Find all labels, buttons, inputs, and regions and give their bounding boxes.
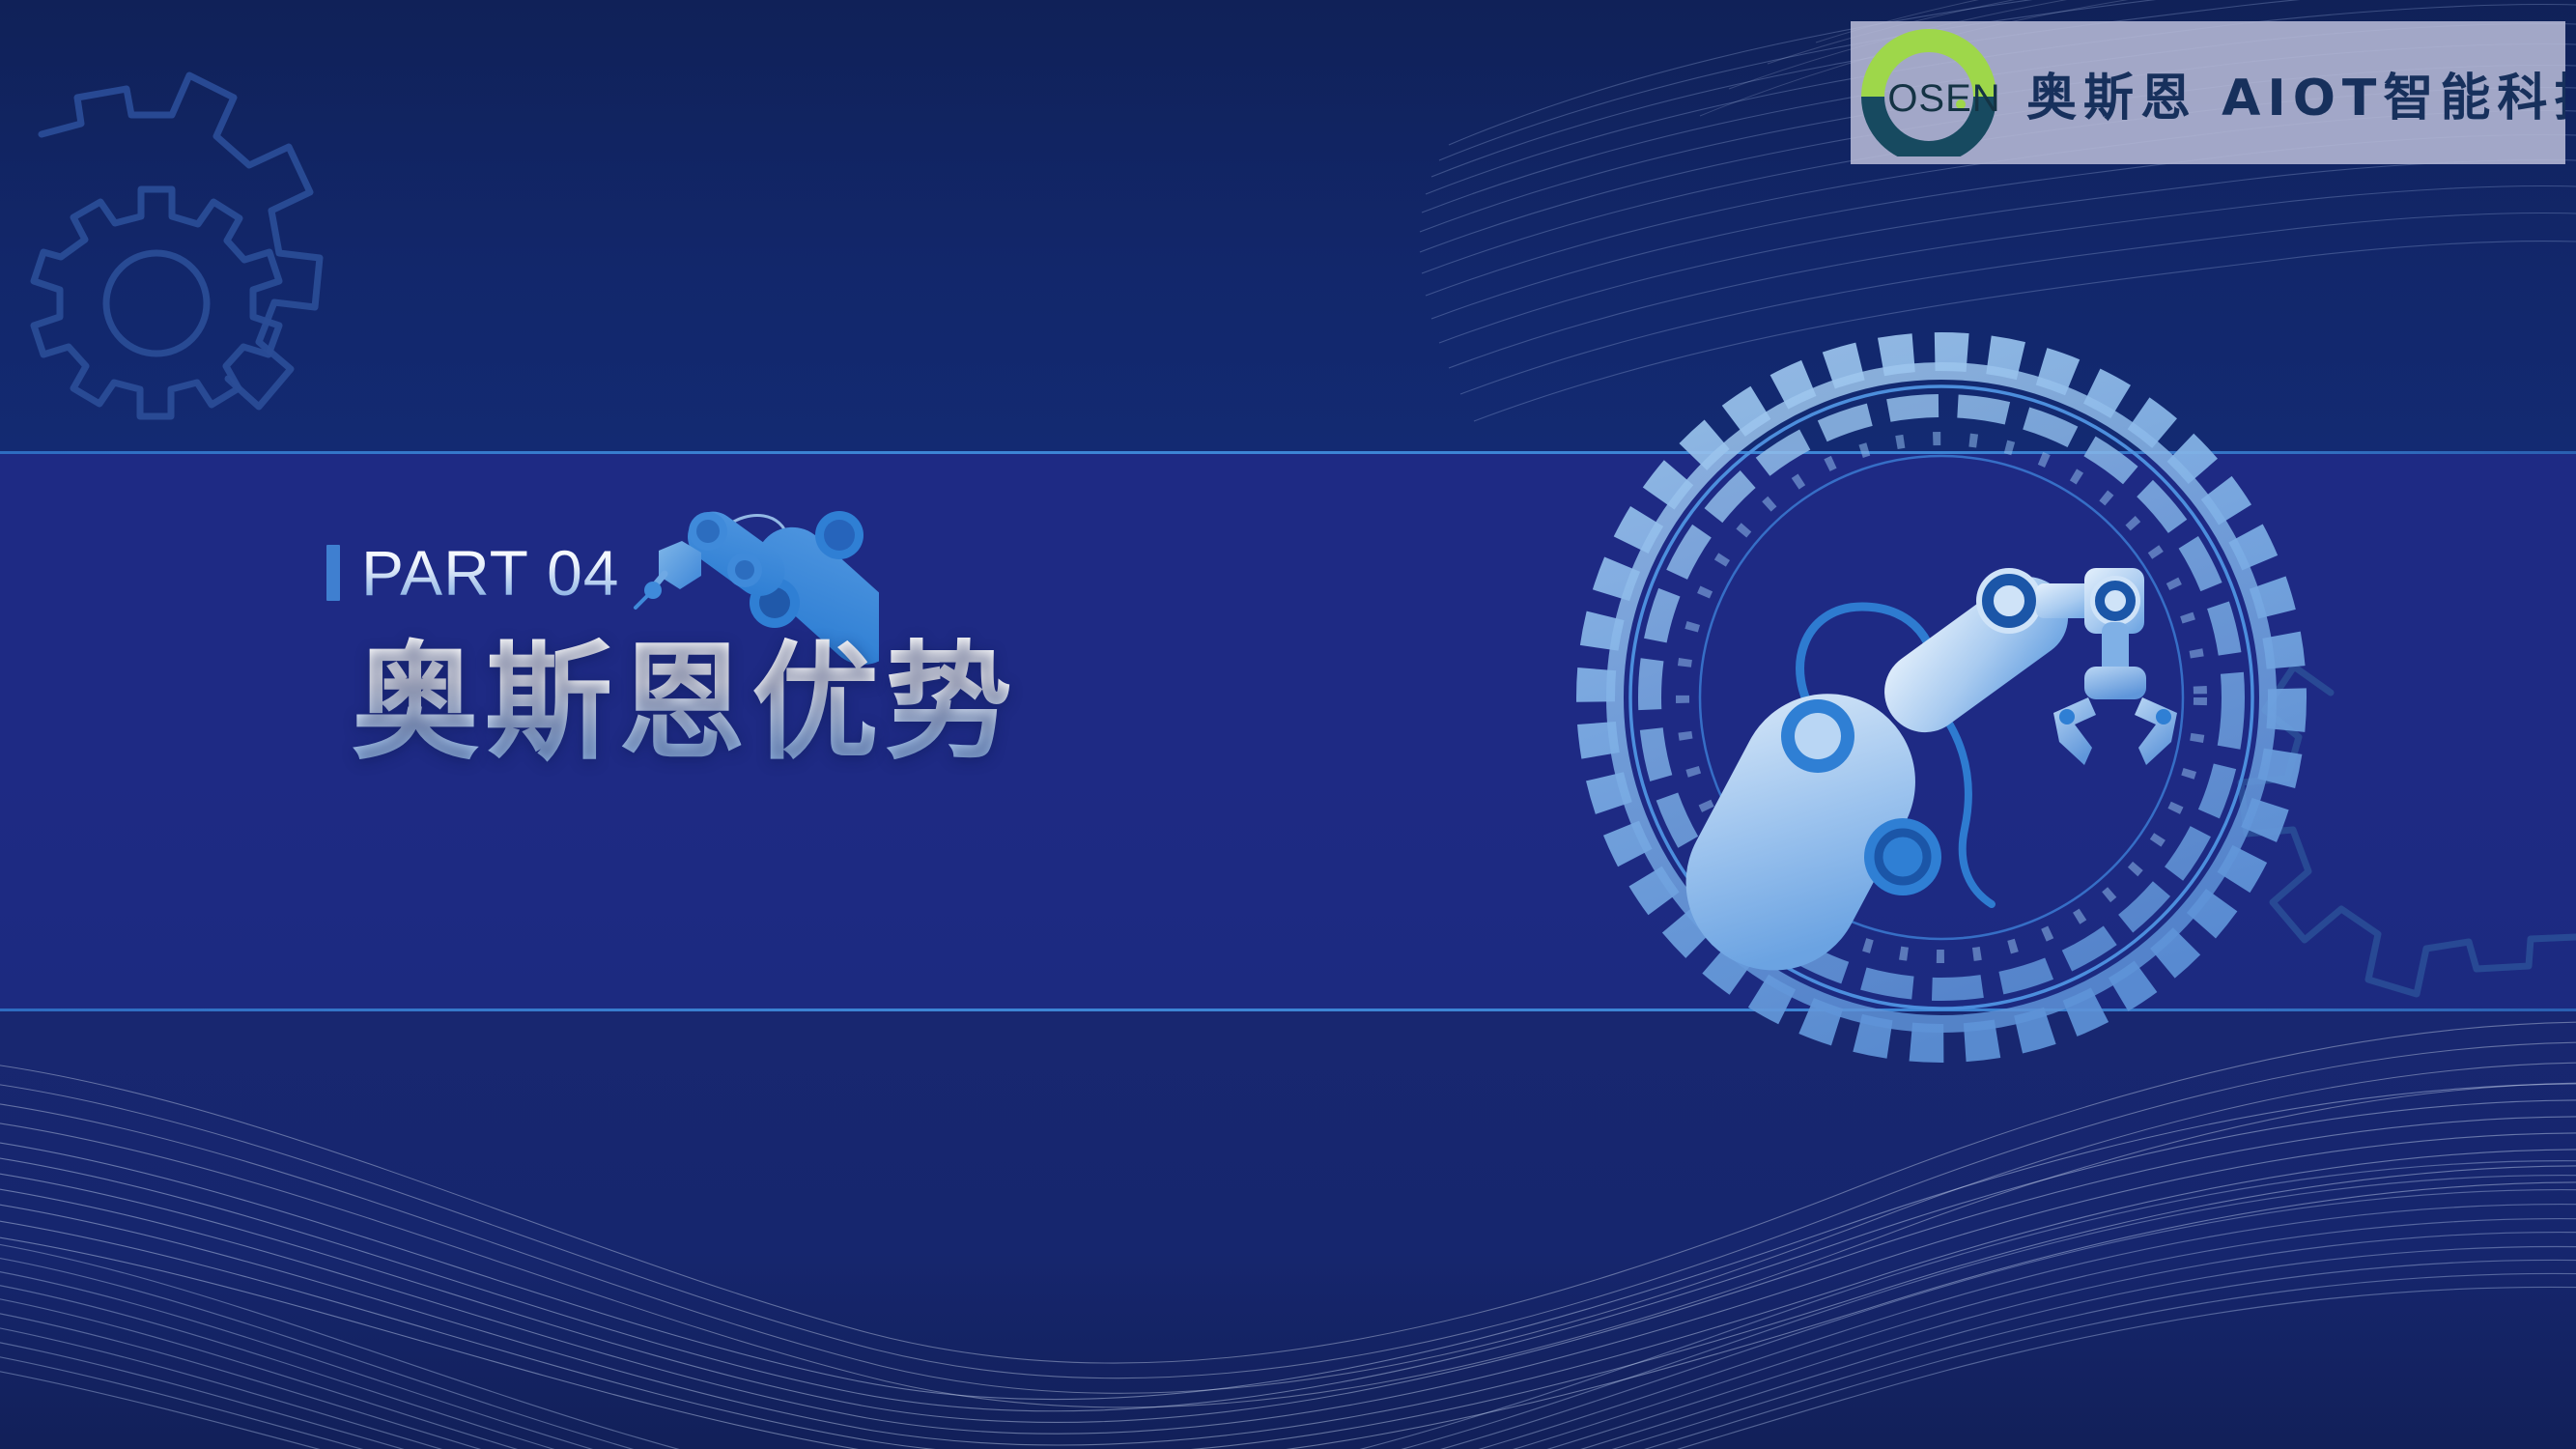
- company-logo-panel: OSEN 奥斯恩 AIOT智能科技: [1851, 21, 2565, 164]
- slide-canvas: PART 04 奥斯恩优势 OSEN 奥斯恩 AIOT智能科技: [0, 0, 2576, 1449]
- osen-ring-logo: OSEN: [1860, 29, 2001, 156]
- part-number-label: PART 04: [361, 541, 620, 605]
- company-name-text: 奥斯恩 AIOT智能科技: [2026, 57, 2565, 129]
- logo-wordmark: OSEN: [1882, 77, 2007, 121]
- page-title: 奥斯恩优势: [352, 637, 1018, 772]
- accent-bar: [326, 545, 340, 601]
- part-label-row: PART 04: [326, 536, 1018, 610]
- gear-ring-emblem: [1555, 311, 2328, 1084]
- section-heading-block: PART 04 奥斯恩优势: [326, 536, 1018, 772]
